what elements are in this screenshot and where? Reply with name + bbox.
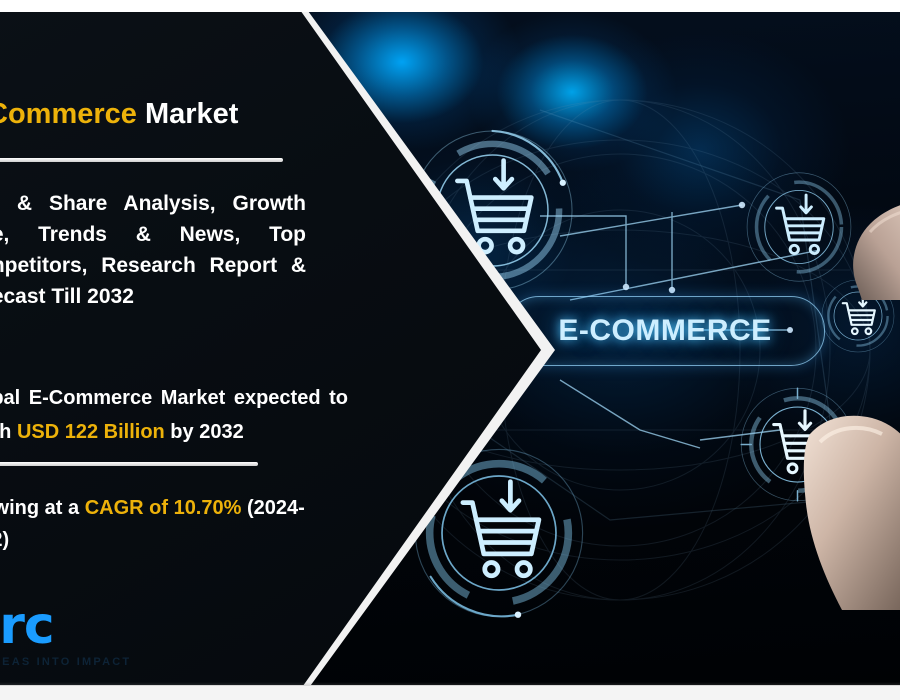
divider-bottom	[0, 462, 258, 466]
divider-top	[0, 158, 283, 162]
title-accent: E-Commerce	[0, 98, 137, 130]
pointing-hand-lower	[780, 400, 900, 610]
banner-image: E-COMMERCE	[0, 0, 900, 700]
cagr-line: Growing at a CAGR of 10.70% (2024-2032)	[0, 492, 306, 557]
logo-wordmark: marc	[0, 600, 212, 652]
cagr-value: CAGR of 10.70%	[85, 497, 242, 519]
ecommerce-hub-label: E-COMMERCE	[505, 296, 825, 366]
brand-logo: marc TURNING IDEAS INTO IMPACT	[0, 600, 212, 668]
frame-top	[0, 0, 900, 12]
title-rest: Market	[137, 98, 239, 130]
hub-label-text: E-COMMERCE	[505, 314, 825, 348]
cagr-prefix: Growing at a	[0, 497, 85, 519]
page-title: E-Commerce Market	[0, 98, 306, 131]
frame-bottom	[0, 685, 900, 700]
banner-copy: E-Commerce Market Size & Share Analysis,…	[0, 0, 308, 700]
forecast-value: USD 122 Billion	[17, 421, 165, 443]
market-forecast-line: Global E-Commerce Market expected to rea…	[0, 382, 348, 449]
logo-tagline: TURNING IDEAS INTO IMPACT	[0, 656, 212, 668]
page-subtitle: Size & Share Analysis, Growth Rate, Tren…	[0, 188, 306, 312]
pointing-hand-upper	[818, 170, 900, 300]
forecast-suffix: by 2032	[165, 421, 244, 443]
